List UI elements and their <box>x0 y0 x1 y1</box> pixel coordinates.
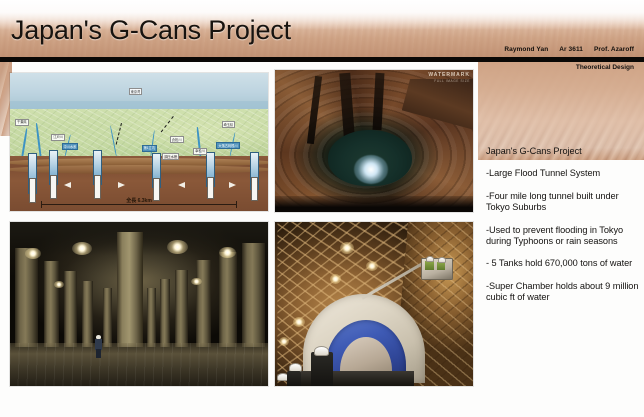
map-label: 中川水系 <box>62 143 79 150</box>
hall-pillar <box>219 252 237 347</box>
map-label: 東京湾 <box>129 88 143 95</box>
map-shaft-tag <box>50 175 57 199</box>
figure-pillar-hall <box>10 222 268 386</box>
hall-central-pillar <box>117 232 143 347</box>
map-label: 調圧水槽 <box>162 153 179 160</box>
notes-bullet: -Super Chamber holds about 9 million cub… <box>486 281 640 304</box>
hall-pillar <box>82 281 92 347</box>
hall-pillar <box>44 261 59 346</box>
credit-professor: Prof. Azaroff <box>594 46 634 53</box>
map-shaft-tag <box>29 178 36 203</box>
shaft-light-reflection <box>354 155 388 183</box>
hall-pillar <box>15 248 38 346</box>
page-title: Japan's G-Cans Project <box>11 14 291 46</box>
header-divider-rule <box>0 57 644 62</box>
map-flow-arrow <box>178 182 185 188</box>
notes-bullet: -Large Flood Tunnel System <box>486 168 640 179</box>
worker-legs <box>96 349 101 358</box>
notes-panel: Japan's G-Cans Project -Large Flood Tunn… <box>486 146 640 304</box>
watermark-text: WATERMARK FULL IMAGE SIZE <box>428 72 470 84</box>
map-shaft-tag <box>207 177 214 200</box>
tunnel-work-platform <box>421 258 453 280</box>
map-shaft-tag <box>153 178 160 201</box>
map-flow-arrow <box>118 182 125 188</box>
hall-light <box>54 281 64 288</box>
shaft-foreground-rim <box>275 196 473 212</box>
map-label: 第1立坑 <box>142 145 157 152</box>
map-flow-arrow <box>229 182 236 188</box>
hall-pillar <box>103 288 112 347</box>
worker-helmet <box>426 256 434 262</box>
sand-right-column <box>478 58 644 160</box>
shaft-canvas: WATERMARK FULL IMAGE SIZE <box>275 70 473 212</box>
presentation-slide: Japan's G-Cans Project Raymond Yan Ar 36… <box>0 0 644 417</box>
map-canvas: 千葉県 東京湾 埼玉県 中川水系 江戸川 第1立坑 倉松川 幸松川 大落古利根川… <box>10 73 268 211</box>
figure-route-section-map: 千葉県 東京湾 埼玉県 中川水系 江戸川 第1立坑 倉松川 幸松川 大落古利根川… <box>10 73 268 211</box>
figure-tunnel-construction <box>275 222 473 386</box>
hall-light <box>191 278 202 285</box>
hall-canvas <box>10 222 268 386</box>
worker-helmet <box>438 257 446 263</box>
foreground-worker-torso <box>287 371 301 386</box>
worker-hi-vis-vest <box>425 261 434 270</box>
worker-hi-vis-vest <box>437 262 445 270</box>
map-label: 千葉県 <box>15 119 29 126</box>
tunnel-work-light <box>340 242 354 254</box>
map-shaft-tag <box>251 177 258 201</box>
foreground-worker-torso <box>311 352 333 386</box>
hall-pillar <box>160 279 170 346</box>
hall-pillar <box>242 243 265 346</box>
worker-helmet <box>314 346 329 356</box>
credit-author: Raymond Yan <box>504 46 548 53</box>
hall-pillar <box>196 260 211 347</box>
hall-pillar <box>175 270 188 347</box>
notes-bullet: - 5 Tanks hold 670,000 tons of water <box>486 258 640 269</box>
map-scale-bar <box>41 204 237 205</box>
map-label: 倉松川 <box>170 136 184 143</box>
map-shaft-tag <box>94 175 101 199</box>
credits-line: Raymond Yan Ar 3611 Prof. Azaroff <box>0 45 644 54</box>
notes-bullet: -Four mile long tunnel built under Tokyo… <box>486 191 640 214</box>
map-flow-arrow <box>64 182 71 188</box>
hall-worker-figure <box>95 335 102 358</box>
credit-course: Ar 3611 <box>559 46 583 53</box>
hall-light <box>219 247 236 258</box>
hall-floor <box>10 343 268 386</box>
notes-heading: Japan's G-Cans Project <box>486 146 640 157</box>
hall-pillar <box>147 288 156 347</box>
map-scale-label: 全長 6.3km <box>126 197 152 204</box>
tunnel-canvas <box>275 222 473 386</box>
tunnel-work-light <box>293 317 305 327</box>
map-label: 幸松川 <box>193 148 207 155</box>
notes-bullet: -Used to prevent flooding in Tokyo durin… <box>486 225 640 248</box>
tunnel-work-light <box>279 337 289 346</box>
map-label: 江戸川 <box>51 134 65 141</box>
map-label: 大落古利根川 <box>216 142 239 149</box>
hall-light <box>72 242 92 255</box>
hall-pillar <box>64 271 77 346</box>
figure-vertical-shaft: WATERMARK FULL IMAGE SIZE <box>275 70 473 212</box>
map-label: 埼玉県 <box>222 121 236 128</box>
